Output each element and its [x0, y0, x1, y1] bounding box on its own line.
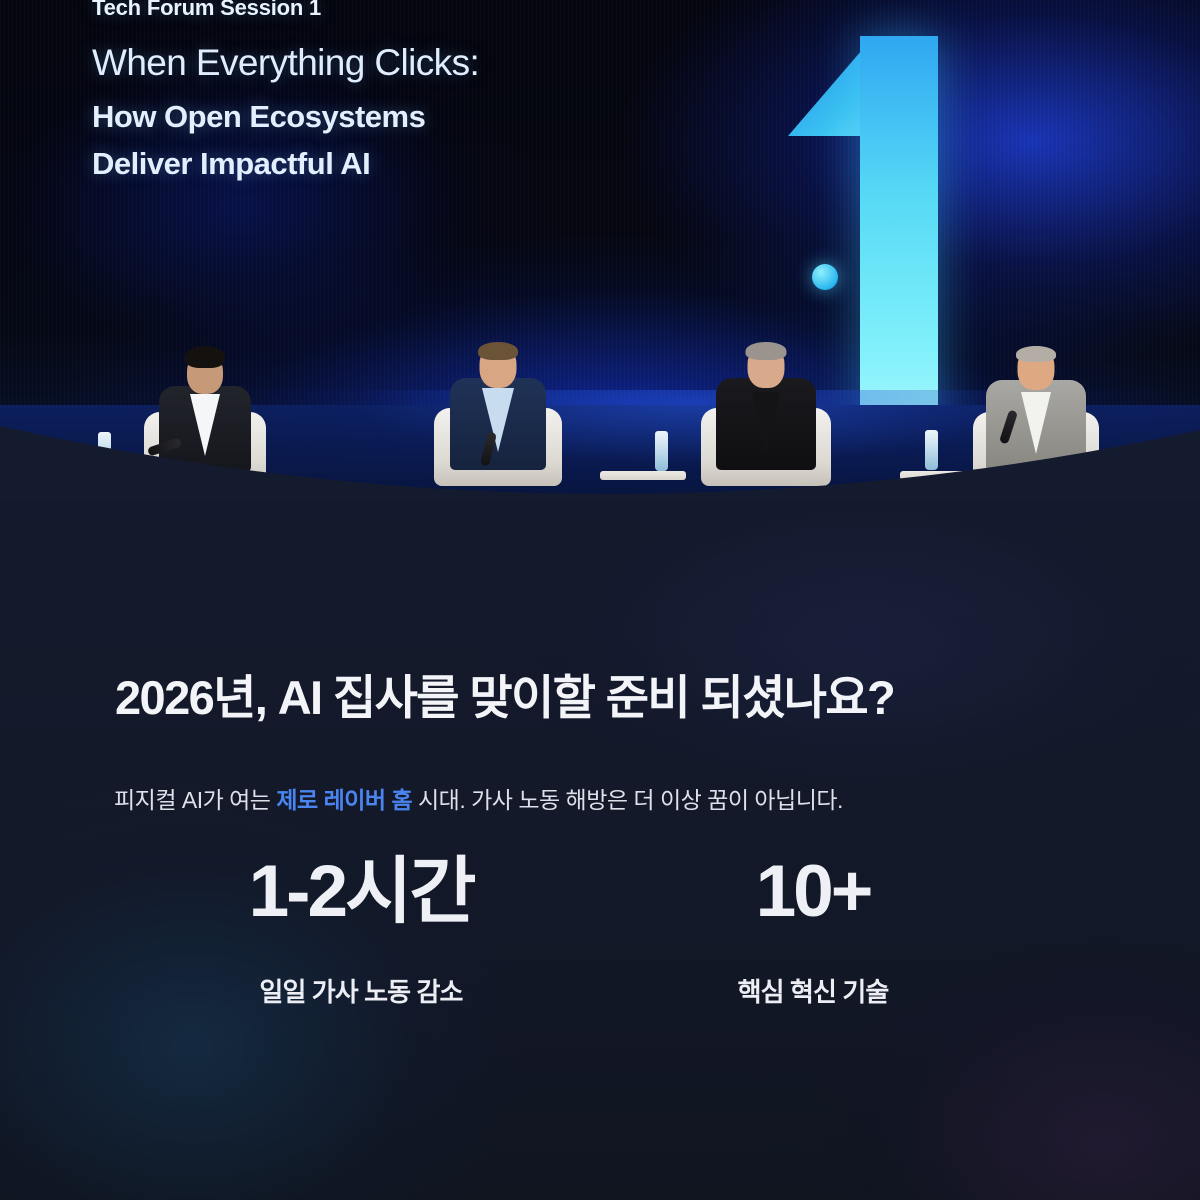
page-subtitle: 피지컬 AI가 여는 제로 레이버 홈 시대. 가사 노동 해방은 더 이상 꿈…	[114, 783, 843, 818]
stat-item: 10+ 핵심 혁신 기술	[548, 855, 1078, 1009]
panelist-1	[140, 346, 270, 486]
panelist-4-hair	[1016, 346, 1056, 362]
stat-label: 핵심 혁신 기술	[548, 972, 1078, 1009]
numeral-dot	[812, 264, 838, 290]
numeral-stem	[860, 36, 938, 432]
subtitle-after: 시대. 가사 노동 해방은 더 이상 꿈이 아닙니다.	[412, 787, 843, 813]
stat-item: 1-2시간 일일 가사 노동 감소	[96, 855, 626, 1009]
panelist-3-hair	[746, 342, 787, 360]
promo-card: Tech Forum Session 1 When Everything Cli…	[0, 0, 1200, 1200]
slide-title: When Everything Clicks:	[92, 44, 732, 81]
stat-value: 1-2시간	[96, 855, 626, 928]
stat-label: 일일 가사 노동 감소	[96, 972, 626, 1009]
water-bottle-3	[925, 430, 938, 470]
stat-value: 10+	[548, 855, 1078, 928]
slide-kicker: Tech Forum Session 1	[92, 0, 732, 20]
subtitle-before: 피지컬 AI가 여는	[114, 787, 276, 813]
panelist-1-hair	[185, 346, 225, 368]
slide-subtitle-line-1: How Open Ecosystems	[92, 96, 732, 139]
subtitle-highlight: 제로 레이버 홈	[276, 787, 412, 813]
panelist-2	[428, 336, 568, 486]
stats-row: 1-2시간 일일 가사 노동 감소 10+ 핵심 혁신 기술	[0, 855, 1200, 1009]
side-table-1	[78, 472, 150, 480]
panelist-3	[696, 336, 836, 486]
content-panel: 2026년, AI 집사를 맞이할 준비 되셨나요? 피지컬 AI가 여는 제로…	[0, 500, 1200, 1200]
water-bottle-1	[98, 432, 111, 472]
side-table-3	[900, 471, 978, 480]
slide-subtitle-line-2: Deliver Impactful AI	[92, 143, 732, 186]
slide-copy-block: Tech Forum Session 1 When Everything Cli…	[92, 0, 732, 186]
panelist-2-hair	[478, 342, 518, 360]
page-title: 2026년, AI 집사를 맞이할 준비 되셨나요?	[115, 670, 894, 725]
water-bottle-2	[655, 431, 668, 471]
panelist-4	[966, 336, 1106, 486]
hero-photo-section: Tech Forum Session 1 When Everything Cli…	[0, 0, 1200, 520]
conference-stage-photo: Tech Forum Session 1 When Everything Cli…	[0, 0, 1200, 520]
side-table-2	[600, 471, 686, 480]
